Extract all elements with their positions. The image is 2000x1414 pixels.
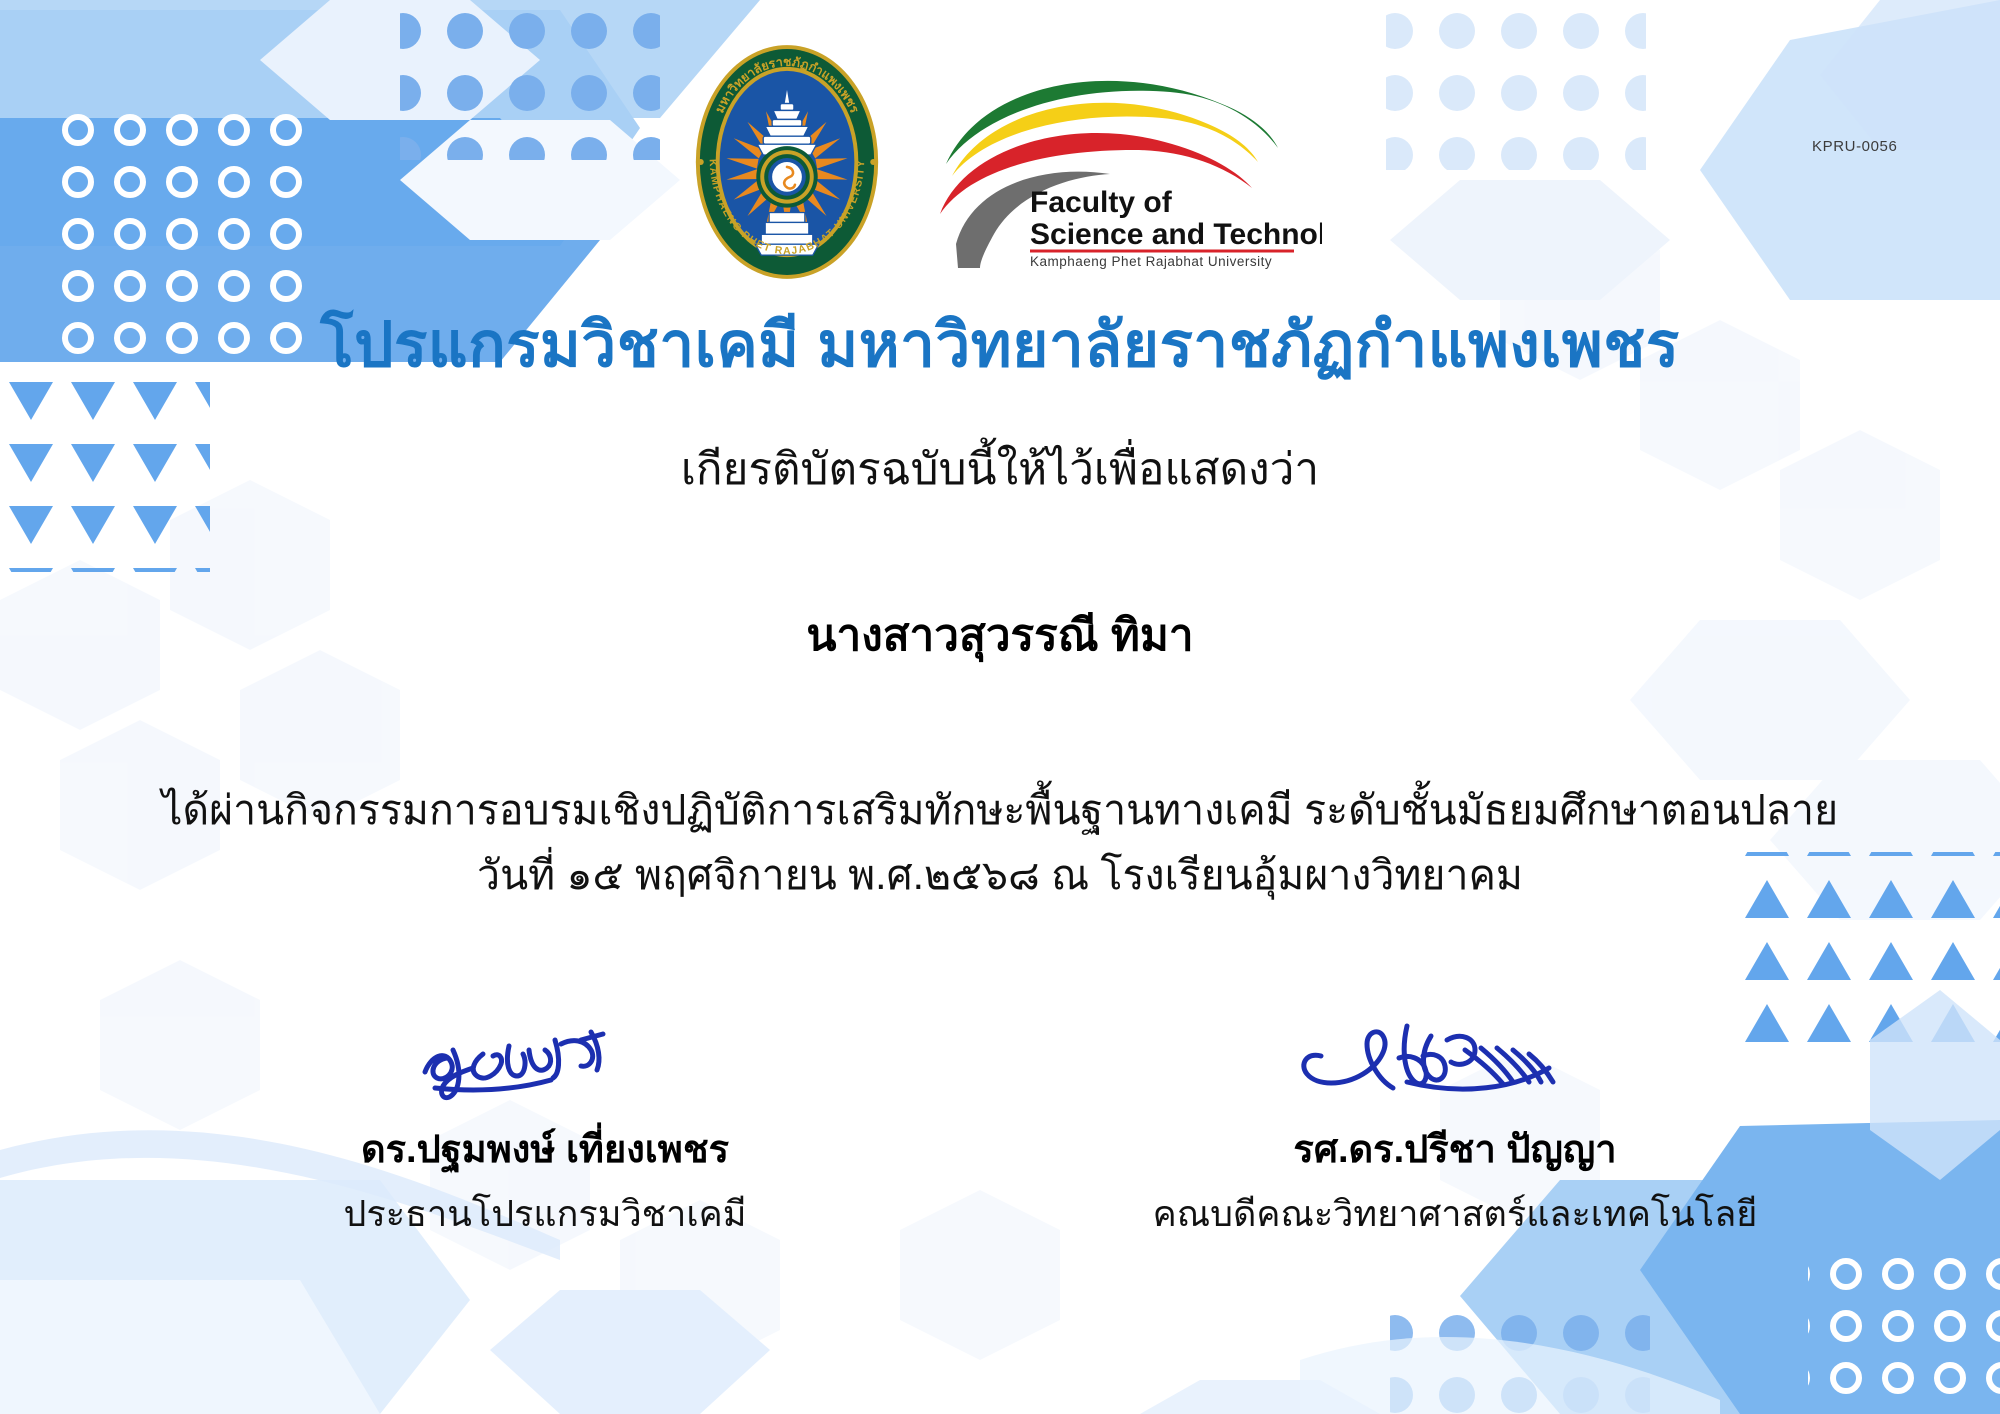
recipient-name: นางสาวสุวรรณี ทิมา (0, 600, 2000, 670)
body-line-1: ได้ผ่านกิจกรรมการอบรมเชิงปฏิบัติการเสริม… (0, 778, 2000, 843)
handwritten-signature-left-icon (235, 1010, 855, 1110)
signature-block-right: รศ.ดร.ปรีชา ปัญญา คณบดีคณะวิทยาศาสตร์และ… (1145, 1010, 1765, 1242)
signer-role-left: ประธานโปรแกรมวิชาเคมี (235, 1185, 855, 1242)
page-title: โปรแกรมวิชาเคมี มหาวิทยาลัยราชภัฏกำแพงเพ… (0, 312, 2000, 380)
signature-block-left: ดร.ปฐมพงษ์ เที่ยงเพชร ประธานโปรแกรมวิชาเ… (235, 1010, 855, 1242)
signature-row: ดร.ปฐมพงษ์ เที่ยงเพชร ประธานโปรแกรมวิชาเ… (0, 1010, 2000, 1242)
certificate-page: KPRU-0056 (0, 0, 2000, 1414)
svg-text:Science and Technology: Science and Technology (1030, 218, 1322, 251)
certificate-body: ได้ผ่านกิจกรรมการอบรมเชิงปฏิบัติการเสริม… (0, 778, 2000, 908)
handwritten-signature-right-icon (1145, 1010, 1765, 1110)
signer-name-right: รศ.ดร.ปรีชา ปัญญา (1145, 1118, 1765, 1179)
body-line-2: วันที่ ๑๕ พฤศจิกายน พ.ศ.๒๕๖๘ ณ โรงเรียนอ… (0, 843, 2000, 908)
kpru-university-seal-icon: มหาวิทยาลัยราชภัฏกำแพงเพชร KAMPHAENG PHE… (678, 38, 896, 286)
svg-text:Faculty of: Faculty of (1030, 186, 1173, 219)
signer-name-left: ดร.ปฐมพงษ์ เที่ยงเพชร (235, 1118, 855, 1179)
svg-text:Kamphaeng Phet Rajabhat Univer: Kamphaeng Phet Rajabhat University (1030, 254, 1272, 269)
faculty-of-science-and-technology-logo: Faculty of Science and Technology Kampha… (922, 52, 1322, 270)
certificate-subtitle: เกียรติบัตรฉบับนี้ให้ไว้เพื่อแสดงว่า (0, 444, 2000, 497)
logo-row: มหาวิทยาลัยราชภัฏกำแพงเพชร KAMPHAENG PHE… (0, 38, 2000, 288)
signer-role-right: คณบดีคณะวิทยาศาสตร์และเทคโนโลยี (1145, 1185, 1765, 1242)
